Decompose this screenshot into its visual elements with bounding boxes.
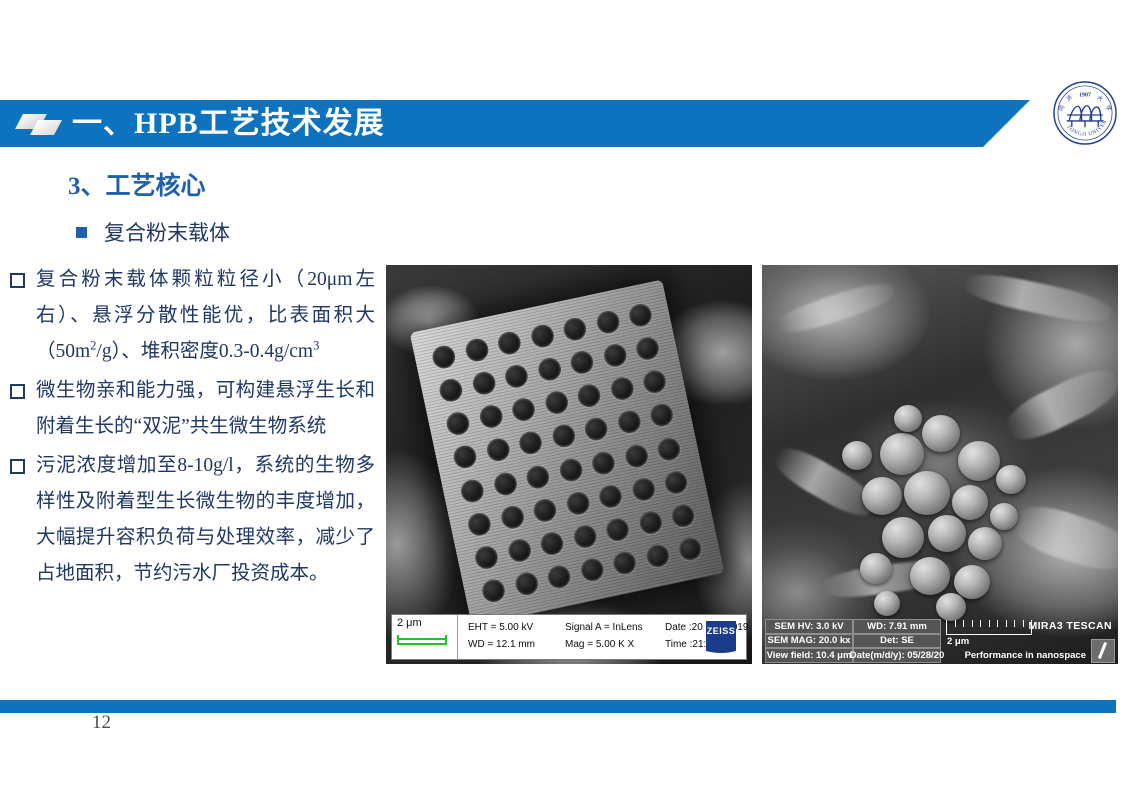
hollow-square-bullet-icon	[10, 384, 25, 399]
sem-image-texture-right	[762, 265, 1118, 664]
scale-ruler-icon	[946, 620, 1032, 635]
sem-micrograph-sludge-carrier: SEM HV: 3.0 kV WD: 7.91 mm SEM MAG: 20.0…	[762, 265, 1118, 664]
list-item: 污泥浓度增加至8-10g/l，系统的生物多样性及附着型生长微生物的丰度增加，大幅…	[10, 448, 375, 592]
scale-ruler-label: 2 μm	[947, 636, 969, 647]
sem-micrograph-diatom-frustule: 2 μm EHT = 5.00 kV WD = 12.1 mm Signal A…	[386, 265, 752, 664]
svg-text:济: 济	[1065, 93, 1075, 103]
sub-heading-row: 复合粉末载体	[76, 217, 230, 247]
page-title: 一、HPB工艺技术发展	[72, 101, 385, 147]
bullet-text-0: 复合粉末载体颗粒粒径小（20μm左右）、悬浮分散性能优，比表面积大（50m2/g…	[36, 262, 375, 370]
sem-detector-value: Det: SE	[853, 634, 941, 649]
svg-text:大: 大	[1095, 93, 1105, 103]
sem-info-col-datetime: Date :20 Nov 2019 Time :21:14:39	[655, 615, 700, 659]
sem-signal-value: Signal A = InLens	[565, 619, 655, 636]
square-bullet-icon	[76, 227, 87, 238]
page-number: 12	[92, 712, 111, 734]
scale-bar-widget: 2 μm	[392, 615, 458, 659]
sem-time-value: Time :21:14:39	[665, 636, 700, 653]
scale-bar-label: 2 μm	[397, 617, 457, 630]
sem-info-grid: SEM HV: 3.0 kV WD: 7.91 mm SEM MAG: 20.0…	[765, 619, 941, 663]
double-diamond-icon	[19, 112, 67, 138]
sem-info-bar-right: SEM HV: 3.0 kV WD: 7.91 mm SEM MAG: 20.0…	[762, 618, 1118, 664]
slide-canvas: 一、HPB工艺技术发展 1907 同 济 大 学 TONGJI UNIVERSI…	[0, 0, 1122, 793]
list-item: 微生物亲和能力强，可构建悬浮生长和附着生长的“双泥”共生微生物系统	[10, 373, 375, 445]
diatom-frustule-body	[410, 279, 725, 626]
sem-date-value: Date :20 Nov 2019	[665, 619, 700, 636]
sub-heading-label: 复合粉末载体	[104, 217, 230, 247]
sem-info-bar-left: 2 μm EHT = 5.00 kV WD = 12.1 mm Signal A…	[391, 614, 747, 660]
sem-viewfield-value: View field: 10.4 μm	[765, 648, 853, 663]
hollow-square-bullet-icon	[10, 459, 25, 474]
tongji-university-logo: 1907 同 济 大 学 TONGJI UNIVERSITY	[1052, 80, 1118, 146]
sem-date-value: Date(m/d/y): 05/28/20	[853, 648, 941, 663]
sem-wd-value: WD = 12.1 mm	[468, 636, 555, 653]
zeiss-logo: ZEISS	[700, 615, 746, 659]
bullet-list: 复合粉末载体颗粒粒径小（20μm左右）、悬浮分散性能优，比表面积大（50m2/g…	[10, 262, 375, 595]
tescan-brand-label: MIRA3 TESCAN	[1028, 620, 1112, 632]
svg-text:1907: 1907	[1079, 93, 1091, 99]
sem-wd-value: WD: 7.91 mm	[853, 619, 941, 634]
tescan-tagline: Performance in nanospace	[965, 650, 1086, 661]
sem-eht-value: EHT = 5.00 kV	[468, 619, 555, 636]
sem-info-col-beam: EHT = 5.00 kV WD = 12.1 mm	[458, 615, 555, 659]
list-item: 复合粉末载体颗粒粒径小（20μm左右）、悬浮分散性能优，比表面积大（50m2/g…	[10, 262, 375, 370]
bullet-text-2: 污泥浓度增加至8-10g/l，系统的生物多样性及附着型生长微生物的丰度增加，大幅…	[36, 448, 375, 592]
sem-mag-value: Mag = 5.00 K X	[565, 636, 655, 653]
sem-image-texture-left	[386, 265, 752, 664]
sem-mag-value: SEM MAG: 20.0 kx	[765, 634, 853, 649]
pore-grid	[427, 298, 708, 608]
hollow-square-bullet-icon	[10, 273, 25, 288]
section-heading: 3、工艺核心	[68, 166, 206, 202]
bullet-text-1: 微生物亲和能力强，可构建悬浮生长和附着生长的“双泥”共生微生物系统	[36, 373, 375, 445]
sem-hv-value: SEM HV: 3.0 kV	[765, 619, 853, 634]
scale-bar-icon	[397, 635, 447, 645]
zeiss-logo-label: ZEISS	[706, 621, 736, 653]
sem-info-col-signal: Signal A = InLens Mag = 5.00 K X	[555, 615, 655, 659]
footer-bar	[0, 700, 1116, 713]
tescan-logo-icon	[1091, 639, 1115, 663]
